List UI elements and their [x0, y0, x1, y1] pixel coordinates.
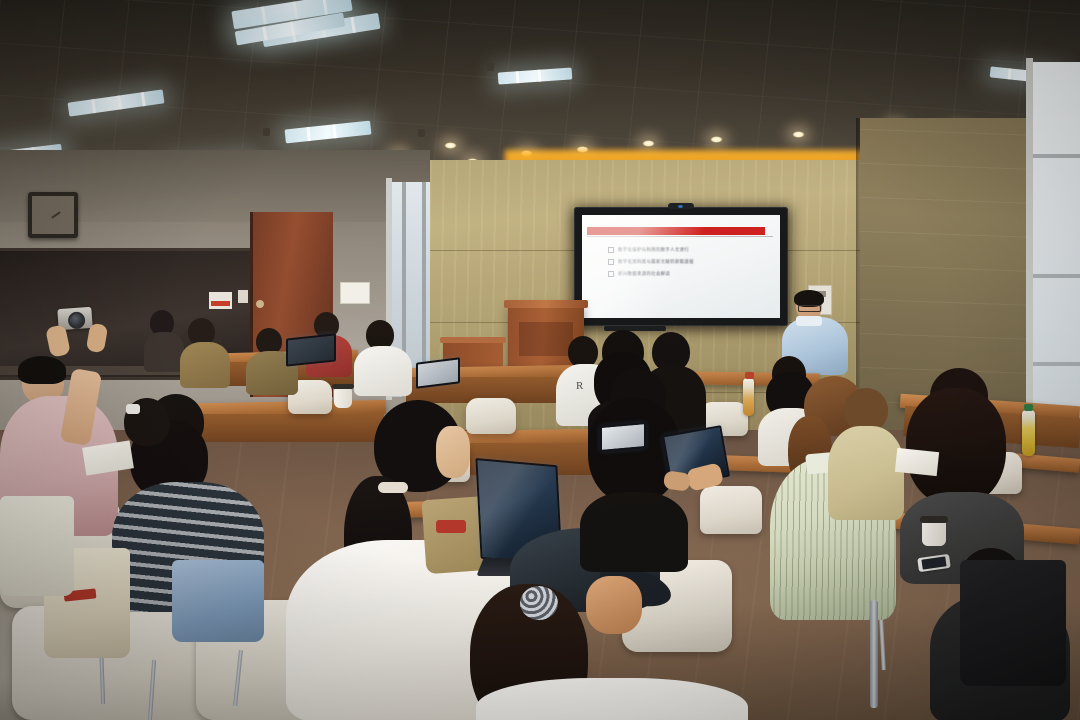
- slide-accent-bar: [587, 227, 765, 235]
- slide-bullet-text: 数字化保护与利用的数字人文进行: [618, 247, 689, 253]
- torso: [144, 332, 184, 372]
- slide-divider: [587, 236, 773, 237]
- beaded-hair-tie: [520, 586, 558, 620]
- laptop-screen: [600, 422, 646, 452]
- conference-camera-icon: [668, 203, 694, 209]
- audience-member: [144, 310, 184, 366]
- bottle-cap: [745, 372, 754, 379]
- recessed-downlight: [710, 136, 723, 143]
- papers: [895, 448, 939, 476]
- coffee-cup: [922, 520, 946, 546]
- backpack: [960, 560, 1066, 686]
- light-switch[interactable]: [238, 290, 248, 303]
- bottle-cap: [1024, 404, 1033, 411]
- hair-clip-icon: [126, 404, 140, 414]
- presenter-glasses-icon: [798, 305, 821, 312]
- luggage-handle[interactable]: [870, 600, 878, 708]
- torso: [580, 492, 688, 572]
- recessed-downlight: [792, 131, 805, 138]
- door-handle-icon[interactable]: [256, 300, 264, 308]
- laptop-screen: [416, 357, 460, 388]
- phone-screen: [921, 556, 946, 569]
- chair[interactable]: [700, 486, 762, 534]
- hair: [18, 356, 66, 384]
- tote-bag-patch: [436, 520, 466, 533]
- photo-scene: 数字化保护与利用的数字人文进行 数字化资料库与最新文献的获取途径 新兴数据来源的…: [0, 0, 1080, 720]
- wall-notice: [340, 282, 370, 304]
- audience-member: [354, 320, 412, 392]
- torso: [180, 342, 230, 388]
- list-item: 新兴数据来源的社会解读: [608, 271, 760, 277]
- laptop[interactable]: [600, 424, 646, 454]
- slide-bullet-text: 新兴数据来源的社会解读: [618, 271, 670, 277]
- face-side: [586, 576, 642, 634]
- bullet-square-icon: [608, 259, 614, 265]
- side-cabinet-top: [440, 337, 506, 343]
- jacket-on-chair: [0, 496, 74, 596]
- slide-bullet-list: 数字化保护与利用的数字人文进行 数字化资料库与最新文献的获取途径 新兴数据来源的…: [608, 247, 760, 283]
- drink-bottle: [1022, 410, 1035, 456]
- wall-clock-icon: [28, 192, 78, 238]
- sprinkler-head: [418, 129, 425, 137]
- slide-bullet-text: 数字化资料库与最新文献的获取途径: [618, 259, 694, 265]
- coffee-cup: [334, 388, 352, 408]
- sprinkler-head: [487, 63, 494, 71]
- sprinkler-head: [263, 128, 270, 136]
- laptop-screen: [286, 333, 336, 366]
- cup-lid: [332, 384, 354, 389]
- torso: [476, 678, 748, 720]
- presenter-collar: [796, 316, 822, 326]
- cup-lid: [920, 516, 948, 523]
- wall-sign: [209, 292, 232, 309]
- laptop[interactable]: [286, 336, 338, 370]
- recessed-downlight: [642, 140, 655, 147]
- drink-bottle: [743, 378, 754, 416]
- bullet-square-icon: [608, 247, 614, 253]
- hair-tie: [378, 482, 408, 493]
- denim-jacket-on-lap: [172, 560, 264, 642]
- audience-member: [180, 318, 230, 382]
- list-item: 数字化保护与利用的数字人文进行: [608, 247, 760, 253]
- list-item: 数字化资料库与最新文献的获取途径: [608, 259, 760, 265]
- audience-member: [828, 388, 904, 518]
- recessed-downlight: [444, 142, 457, 149]
- bullet-square-icon: [608, 271, 614, 277]
- lectern-top: [504, 300, 588, 308]
- camera-lens-icon: [68, 311, 86, 329]
- face-side: [436, 426, 470, 478]
- presentation-slide: 数字化保护与利用的数字人文进行 数字化资料库与最新文献的获取途径 新兴数据来源的…: [582, 215, 780, 318]
- torso: [354, 346, 412, 396]
- torso: [828, 426, 904, 520]
- laptop[interactable]: [416, 360, 460, 390]
- long-hair: [906, 388, 1006, 506]
